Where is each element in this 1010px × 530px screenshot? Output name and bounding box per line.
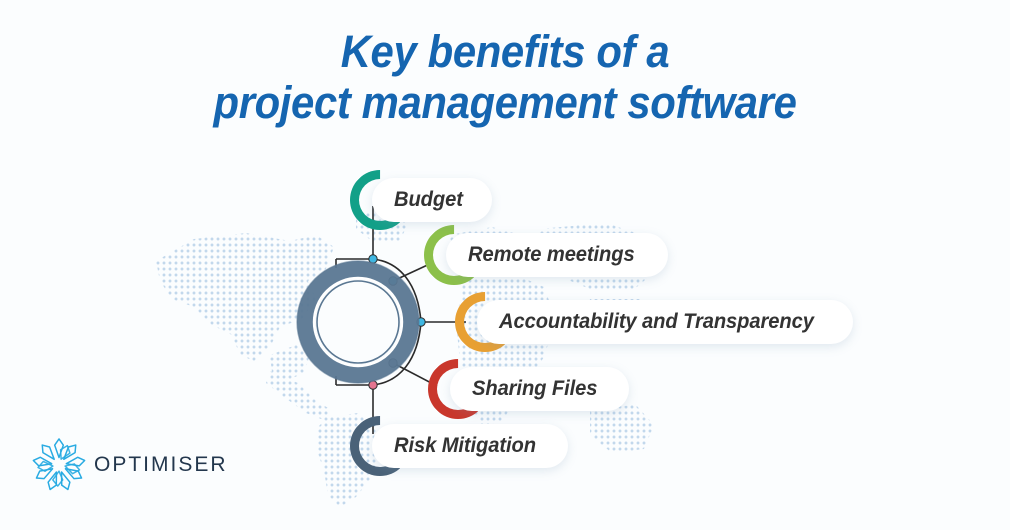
title-line-1: Key benefits of a: [35, 26, 974, 77]
optimiser-logo[interactable]: OPTIMISER: [28, 430, 208, 500]
title-line-2: project management software: [35, 77, 974, 128]
benefit-pill-body: Sharing Files: [450, 367, 629, 411]
central-hub-ring: [297, 261, 419, 383]
benefit-pill-accountability-and-transparency[interactable]: Accountability and Transparency: [455, 300, 853, 344]
benefit-pill-body: Remote meetings: [446, 233, 668, 277]
connector-node-sharing-files: [389, 359, 397, 367]
benefit-label: Sharing Files: [472, 377, 597, 401]
benefit-label: Remote meetings: [468, 243, 635, 267]
benefit-pill-body: Risk Mitigation: [372, 424, 568, 468]
connector-node-budget: [369, 255, 377, 263]
benefit-pill-budget[interactable]: Budget: [350, 178, 492, 222]
benefit-pill-body: Accountability and Transparency: [477, 300, 853, 344]
connector-node-accountability: [417, 318, 425, 326]
connector-node-risk-mitigation: [369, 381, 377, 389]
benefit-label: Risk Mitigation: [394, 434, 536, 458]
page-title: Key benefits of a project management sof…: [0, 26, 1010, 128]
logo-wordmark: OPTIMISER: [94, 453, 228, 477]
benefit-pill-risk-mitigation[interactable]: Risk Mitigation: [350, 424, 568, 468]
benefit-label: Budget: [394, 188, 463, 212]
benefit-pill-body: Budget: [372, 178, 492, 222]
optimiser-petal-burst-icon: [28, 434, 90, 496]
infographic-canvas: Key benefits of a project management sof…: [0, 0, 1010, 530]
benefit-pill-remote-meetings[interactable]: Remote meetings: [424, 233, 668, 277]
benefit-label: Accountability and Transparency: [499, 310, 814, 334]
connector-node-remote-meetings: [389, 277, 397, 285]
benefit-pill-sharing-files[interactable]: Sharing Files: [428, 367, 629, 411]
